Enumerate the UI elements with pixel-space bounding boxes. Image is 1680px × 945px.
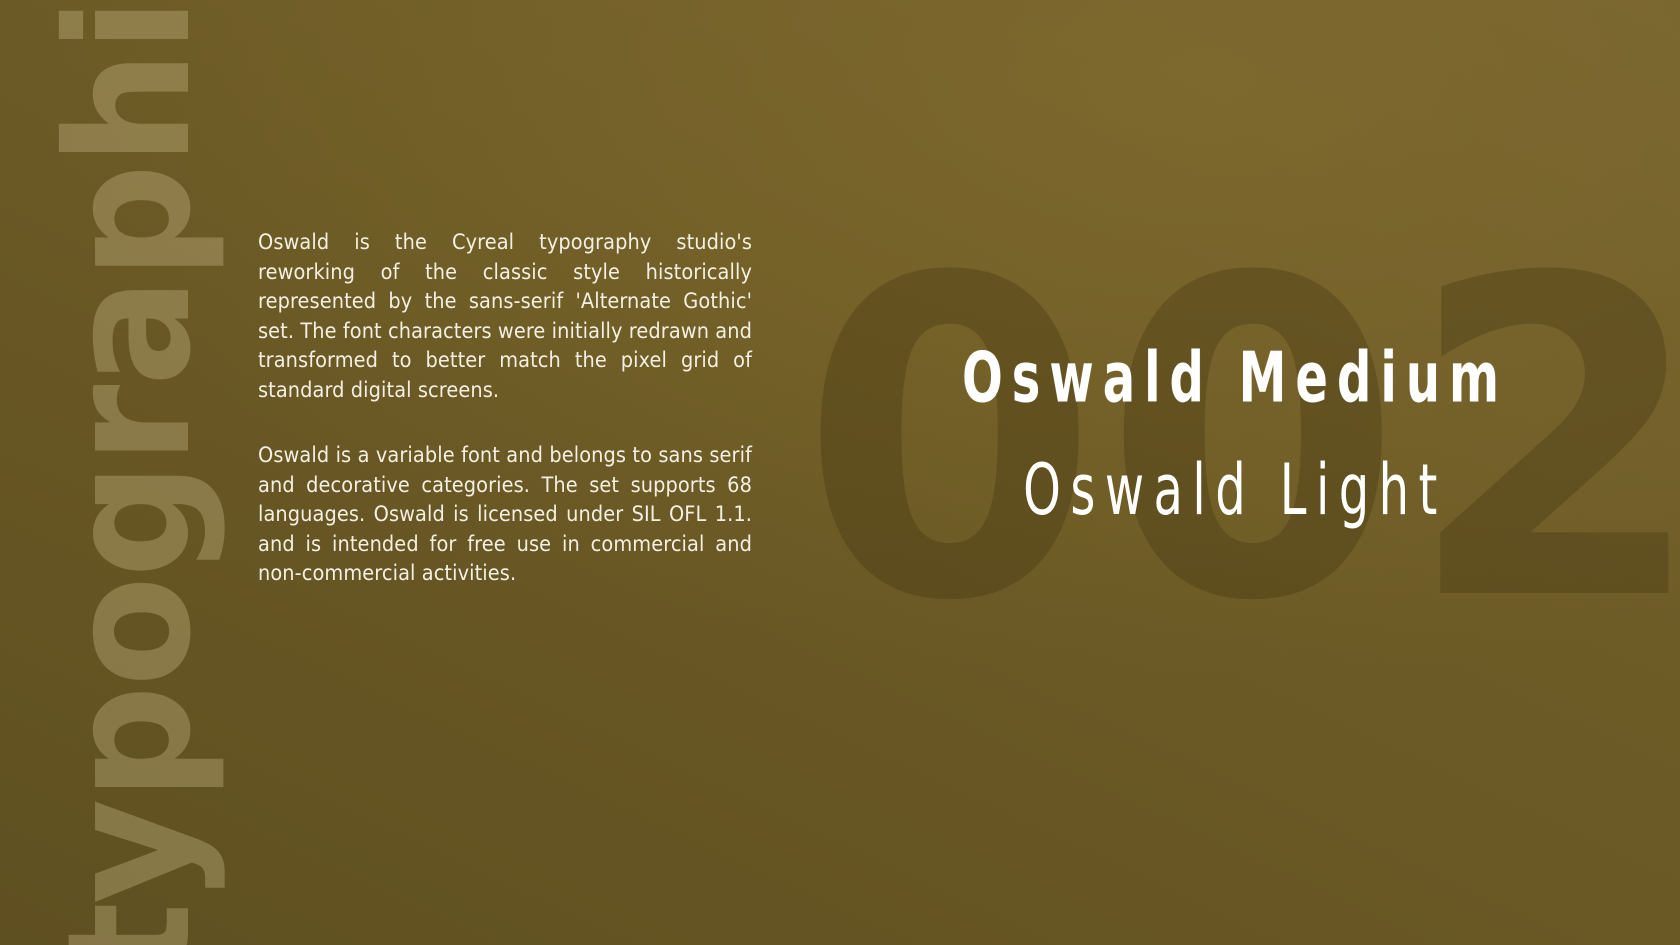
specimen-panel: 002 Oswald Medium Oswald Light xyxy=(790,0,1680,945)
specimen-sample-light: Oswald Light xyxy=(852,442,1617,538)
typography-specimen-slide: typographics Oswald is the Cyreal typogr… xyxy=(0,0,1680,945)
description-column: Oswald is the Cyreal typography studio's… xyxy=(258,228,752,589)
specimen-sample-lines: Oswald Medium Oswald Light xyxy=(790,336,1680,532)
description-paragraph-1: Oswald is the Cyreal typography studio's… xyxy=(258,228,752,405)
description-paragraph-2: Oswald is a variable font and belongs to… xyxy=(258,441,752,589)
specimen-sample-medium: Oswald Medium xyxy=(852,331,1617,425)
